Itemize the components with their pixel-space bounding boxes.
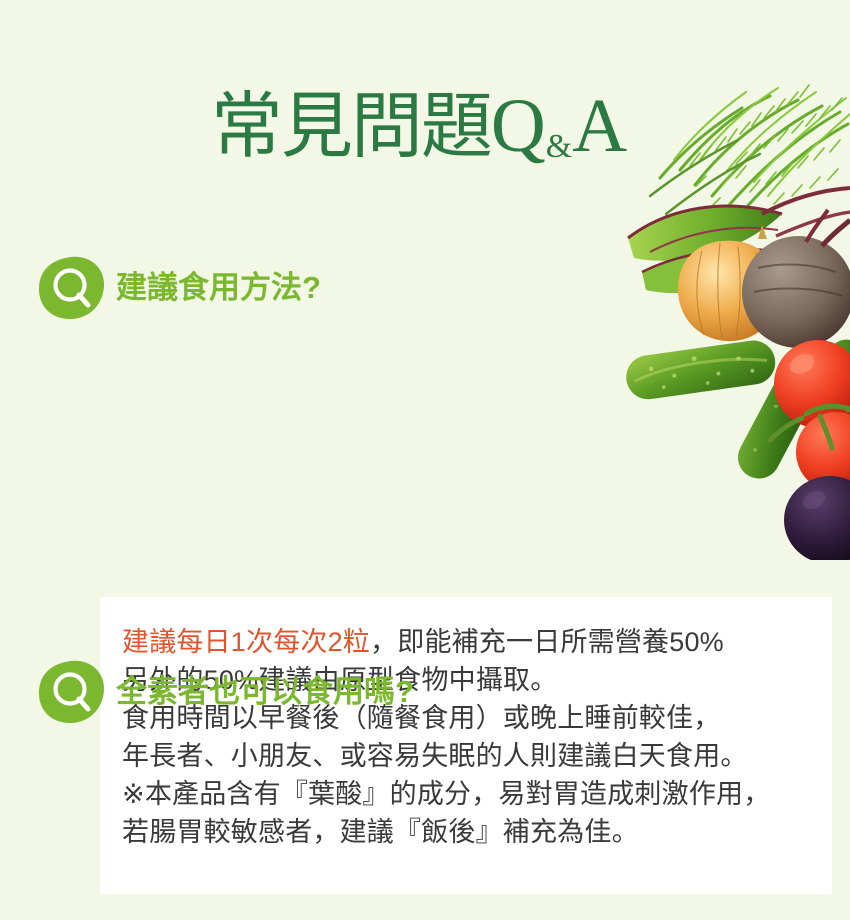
faq-page: 常見問題Q&A 建議食用方法? 建議每日1次每次2粒，即能補充一日所需營養50%…: [0, 0, 850, 920]
answer-line: 年長者、小朋友、或容易失眠的人則建議白天食用。: [122, 737, 832, 775]
page-title-q: Q: [491, 84, 546, 168]
faq-answer-card-1: 建議每日1次每次2粒，即能補充一日所需營養50% 另外的50%建議由原型食物中攝…: [100, 597, 832, 894]
answer-line: 若腸胃較敏感者，建議『飯後』補充為佳。: [122, 813, 832, 851]
answer-plain: ，即能補充一日所需營養50%: [370, 627, 724, 657]
answer-highlight: 建議每日1次每次2粒: [122, 627, 370, 657]
answer-line: ※本產品含有『葉酸』的成分，易對胃造成刺激作用，: [122, 775, 832, 813]
page-title-amp: &: [546, 128, 572, 165]
page-title: 常見問題Q&A: [0, 88, 850, 164]
faq-question-text-2: 全素者也可以食用嗎?: [116, 674, 414, 710]
faq-question-text-1: 建議食用方法?: [116, 270, 321, 306]
question-badge-icon: [38, 256, 106, 320]
answer-line: 建議每日1次每次2粒，即能補充一日所需營養50%: [122, 623, 832, 661]
question-badge-icon: [38, 660, 106, 724]
faq-item-1: 建議食用方法? 建議每日1次每次2粒，即能補充一日所需營養50% 另外的50%建…: [0, 256, 850, 320]
faq-question-header-1[interactable]: 建議食用方法?: [0, 256, 850, 320]
page-title-text: 常見問題Q&A: [211, 88, 627, 164]
faq-question-header-2[interactable]: 全素者也可以食用嗎?: [0, 660, 850, 724]
page-title-cjk: 常見問題: [211, 84, 491, 168]
page-title-a: A: [572, 84, 627, 168]
faq-item-2: 全素者也可以食用嗎? 當然可以。本產品沒有使用任何動物性與蛋奶成分 且完全無參與…: [0, 660, 850, 724]
